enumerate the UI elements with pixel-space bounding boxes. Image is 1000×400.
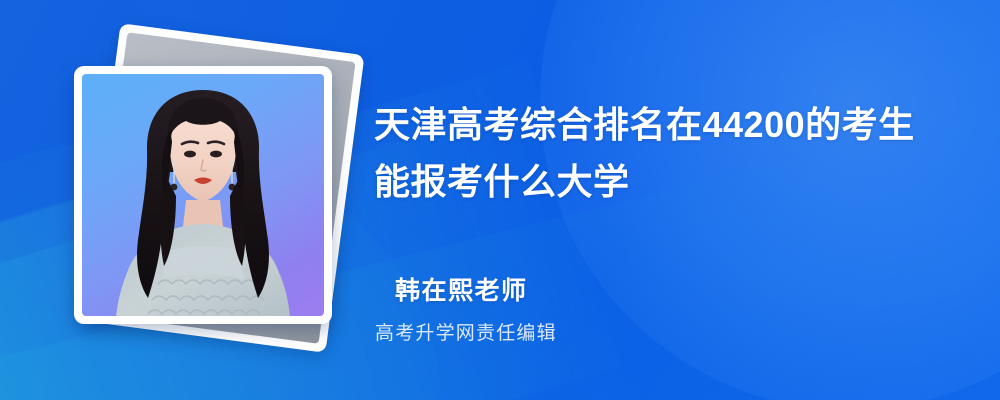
- author-name: 韩在熙老师: [395, 271, 528, 307]
- article-header-banner: 天津高考综合排名在44200的考生 能报考什么大学 韩在熙老师 高考升学网责任编…: [0, 0, 1000, 400]
- avatar: [82, 74, 324, 316]
- portrait-photo-icon: [108, 84, 298, 316]
- author-role: 高考升学网责任编辑: [375, 318, 557, 345]
- page-title-line-2: 能报考什么大学: [374, 153, 944, 210]
- avatar-photo-stack: [62, 32, 362, 362]
- page-title-line-1: 天津高考综合排名在44200的考生: [374, 96, 944, 153]
- photo-card-front: [74, 66, 332, 324]
- page-title: 天津高考综合排名在44200的考生 能报考什么大学: [374, 96, 944, 210]
- header-text-column: 天津高考综合排名在44200的考生 能报考什么大学 韩在熙老师 高考升学网责任编…: [374, 0, 954, 400]
